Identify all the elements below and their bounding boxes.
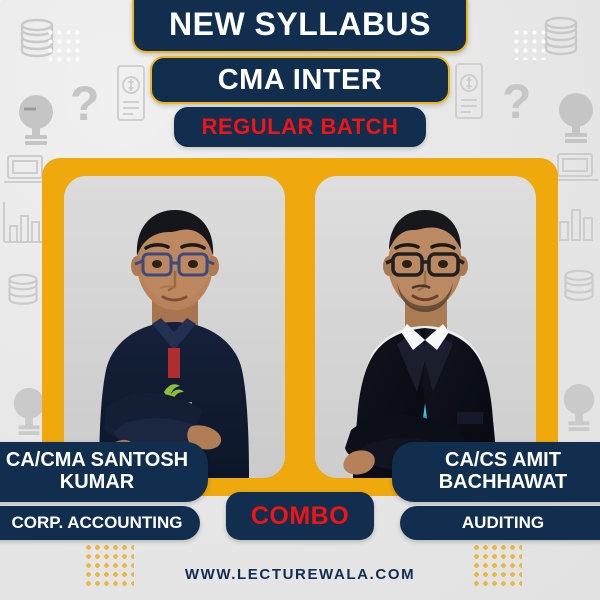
faculty-subject-left: CORP. ACCOUNTING [0, 506, 200, 540]
title-block: NEW SYLLABUS CMA INTER REGULAR BATCH [0, 0, 600, 147]
combo-badge-text: COMBO [251, 502, 349, 531]
lightbulb-icon [556, 376, 600, 438]
coin-stack-icon [4, 272, 42, 312]
title-line-3-text: REGULAR BATCH [202, 114, 399, 140]
bar-chart-icon [556, 194, 600, 246]
promotional-poster: ? ? [0, 0, 600, 600]
laptop-icon [552, 150, 600, 186]
website-url-text: WWW.LECTUREWALA.COM [185, 566, 415, 583]
bar-chart-icon [0, 196, 44, 248]
title-new-syllabus: NEW SYLLABUS [132, 0, 468, 53]
faculty-name-left: CA/CMA SANTOSH KUMAR [0, 442, 208, 502]
faculty-subject-left-text: CORP. ACCOUNTING [12, 514, 183, 532]
faculty-subject-right-text: AUDITING [462, 514, 544, 532]
website-url: WWW.LECTUREWALA.COM [0, 566, 600, 583]
faculty-name-right-text: CA/CS AMIT BACHHAWAT [402, 450, 600, 493]
title-cma-inter: CMA INTER [150, 56, 450, 104]
portrait-amit-bachhawat [315, 176, 536, 478]
faculty-name-right: CA/CS AMIT BACHHAWAT [392, 442, 600, 502]
faculty-photo-left [64, 176, 285, 478]
faculty-subject-right: AUDITING [400, 506, 600, 540]
portrait-santosh-kumar [64, 176, 285, 478]
title-line-2-text: CMA INTER [218, 64, 383, 97]
combo-badge: COMBO [226, 492, 374, 540]
title-regular-batch: REGULAR BATCH [174, 107, 426, 147]
faculty-name-left-text: CA/CMA SANTOSH KUMAR [0, 450, 198, 493]
title-line-1-text: NEW SYLLABUS [169, 6, 431, 43]
coin-stack-icon [560, 268, 598, 308]
faculty-photo-right [315, 176, 536, 478]
